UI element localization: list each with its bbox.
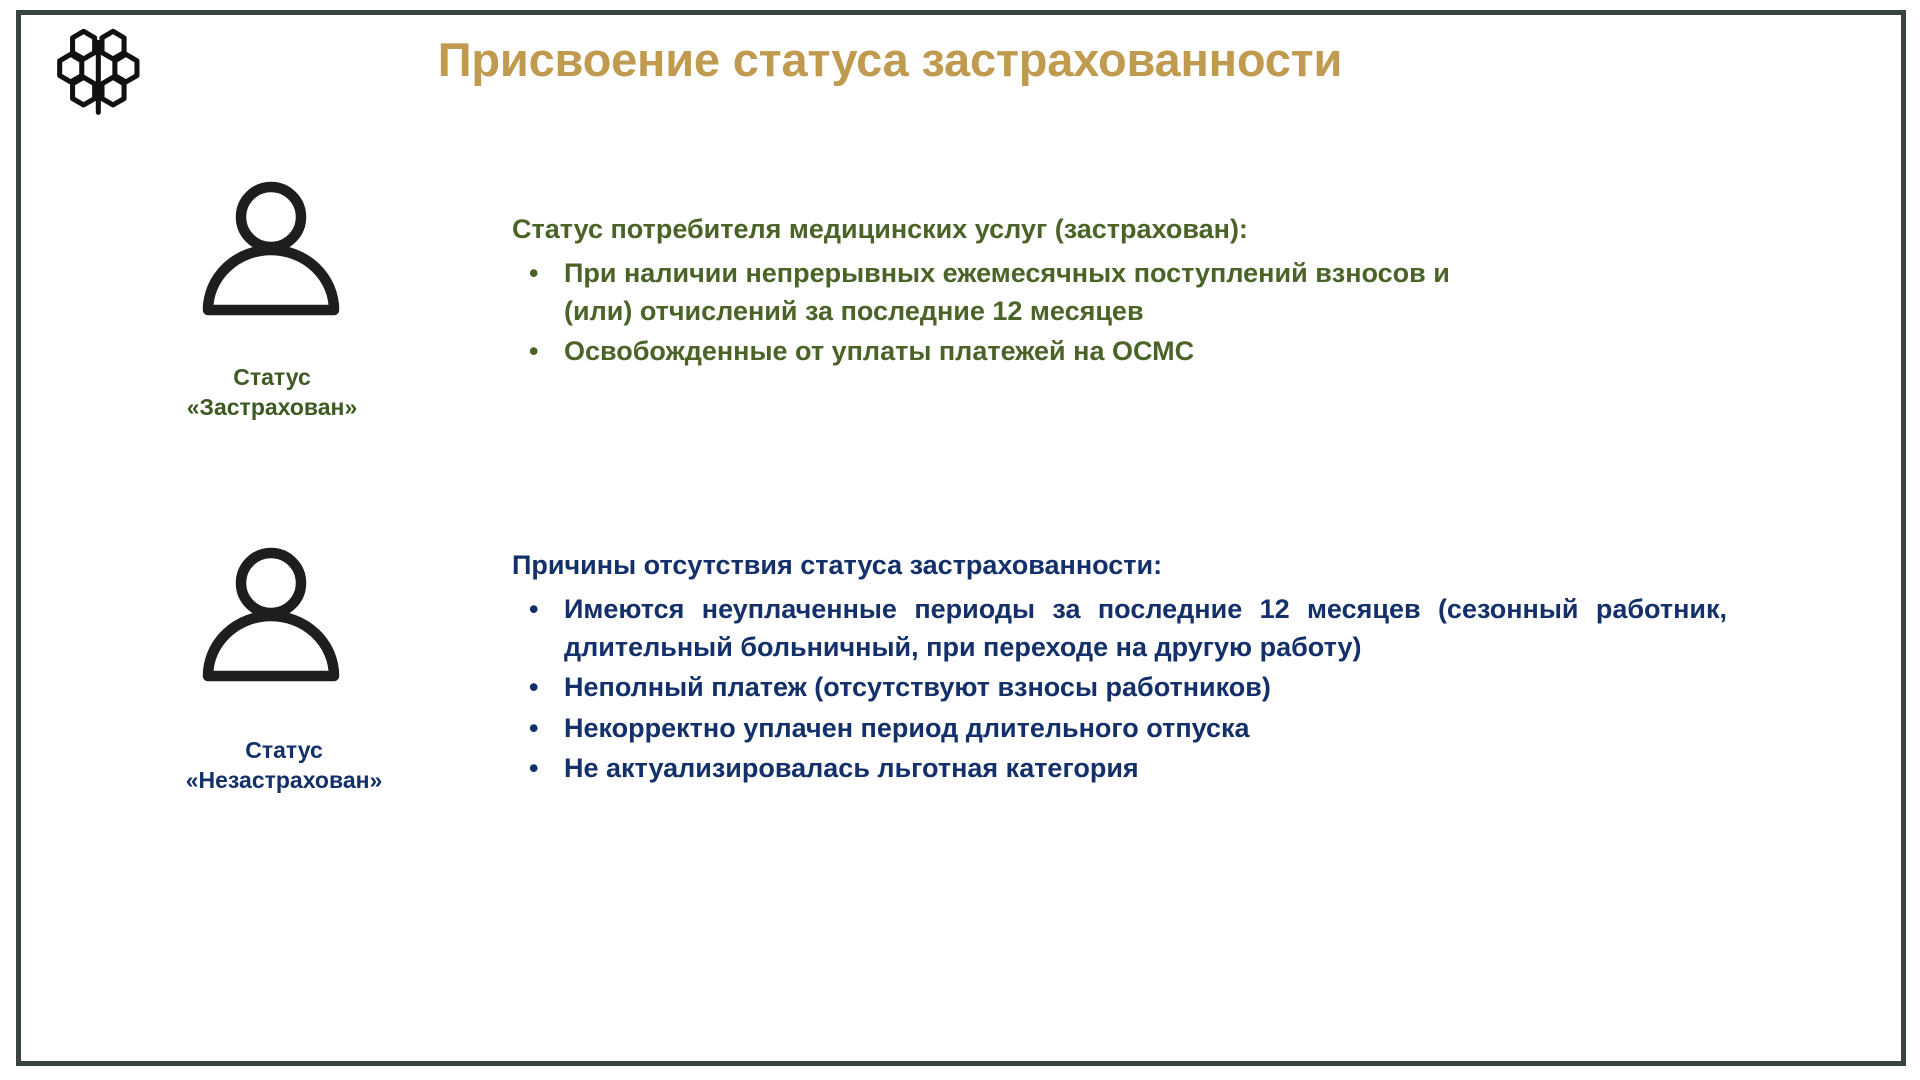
person-icon-insured (196, 178, 346, 328)
person-icon-uninsured (196, 544, 346, 694)
uninsured-bullet-list: • Имеются неуплаченные периоды за послед… (512, 590, 1727, 788)
list-item: • При наличии непрерывных ежемесячных по… (512, 254, 1522, 331)
person-label-uninsured-line2: «Незастрахован» (134, 765, 434, 795)
list-item: • Освобожденные от уплаты платежей на ОС… (512, 332, 1522, 370)
insured-heading: Статус потребителя медицинских услуг (за… (512, 212, 1522, 248)
list-item: • Неполный платеж (отсутствуют взносы ра… (512, 668, 1727, 706)
bullet-marker-icon: • (529, 254, 538, 292)
list-item: • Имеются неуплаченные периоды за послед… (512, 590, 1727, 667)
list-item-text: Некорректно уплачен период длительного о… (564, 713, 1250, 743)
content-block-uninsured: Причины отсутствия статуса застрахованно… (512, 548, 1727, 789)
person-label-insured-line1: Статус (233, 364, 311, 390)
list-item-text: Освобожденные от уплаты платежей на ОСМС (564, 336, 1194, 366)
list-item: • Некорректно уплачен период длительного… (512, 709, 1727, 747)
page-title: Присвоение статуса застрахованности (300, 32, 1480, 87)
list-item-text: Не актуализировалась льготная категория (564, 753, 1139, 783)
content-block-insured: Статус потребителя медицинских услуг (за… (512, 212, 1522, 373)
bullet-marker-icon: • (529, 332, 538, 370)
bullet-marker-icon: • (529, 709, 538, 747)
list-item-text: Неполный платеж (отсутствуют взносы рабо… (564, 672, 1271, 702)
slide: Присвоение статуса застрахованности Стат… (0, 0, 1920, 1080)
insured-bullet-list: • При наличии непрерывных ежемесячных по… (512, 254, 1522, 371)
bullet-marker-icon: • (529, 749, 538, 787)
slide-border-frame (16, 10, 1906, 1066)
uninsured-heading: Причины отсутствия статуса застрахованно… (512, 548, 1727, 584)
person-label-insured: Статус «Застрахован» (122, 362, 422, 423)
list-item-text: Имеются неуплаченные периоды за последни… (564, 590, 1727, 667)
person-label-uninsured-line1: Статус (245, 737, 323, 763)
bullet-marker-icon: • (529, 590, 538, 628)
list-item: • Не актуализировалась льготная категори… (512, 749, 1727, 787)
person-label-uninsured: Статус «Незастрахован» (134, 735, 434, 796)
snowflake-hexagon-logo-icon (56, 24, 148, 116)
bullet-marker-icon: • (529, 668, 538, 706)
person-label-insured-line2: «Застрахован» (122, 392, 422, 422)
list-item-text: При наличии непрерывных ежемесячных пост… (564, 258, 1450, 326)
